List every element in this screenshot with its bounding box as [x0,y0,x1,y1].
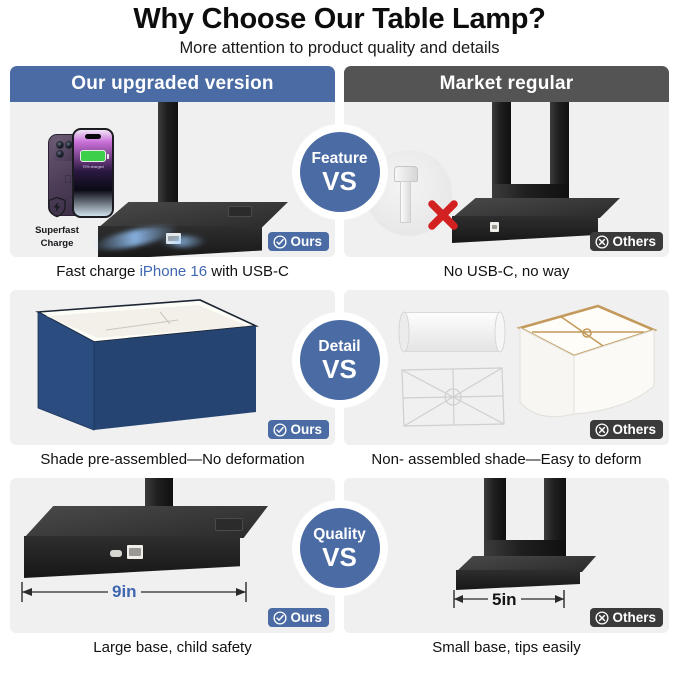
dimension-label-5in: 5in [488,590,521,610]
caption-ours-prefix: Fast charge [56,263,139,280]
vs-badge-circle: Detail VS [300,320,380,400]
vs-badge-text: VS [322,544,357,570]
column-header-market: Market regular [344,66,669,102]
caption-ours-suffix: with USB-C [207,263,289,280]
panel-market-quality: 5in Others [344,478,669,633]
infographic-page: Why Choose Our Table Lamp? More attentio… [0,0,679,677]
vs-badge-text: VS [322,356,357,382]
tag-others-quality: Others [590,608,663,627]
x-circle-icon [595,423,609,437]
dimension-label-9in: 9in [108,582,141,602]
x-circle-icon [595,235,609,249]
superfast-charge-badge: Superfast Charge [22,196,92,249]
tag-ours-label: Ours [290,422,322,437]
vs-badge-feature: Feature VS [292,124,388,220]
column-header-ours: Our upgraded version [10,66,335,102]
caption-others-detail: Non- assembled shade—Easy to deform [344,445,669,475]
vs-badge-circle: Feature VS [300,132,380,212]
caption-ours-feature: Fast charge iPhone 16 with USB-C [10,257,335,287]
panel-market-feature: Others [344,102,669,257]
tag-ours-label: Ours [290,234,322,249]
tag-ours-feature: Ours [268,232,329,251]
page-subtitle: More attention to product quality and de… [0,36,679,59]
vs-badge-label: Quality [313,527,366,543]
vs-badge-detail: Detail VS [292,312,388,408]
comparison-rows:  70% charged [0,102,679,663]
vs-badge-label: Feature [312,151,368,167]
caption-ours-highlight: iPhone 16 [140,263,208,280]
vs-badge-text: VS [322,168,357,194]
tag-others-label: Others [612,422,656,437]
superfast-line-1: Superfast [22,225,92,236]
vs-badge-quality: Quality VS [292,500,388,596]
caption-ours-quality: Large base, child safety [10,633,335,663]
red-x-icon [426,198,460,232]
caption-others-feature: No USB-C, no way [344,257,669,287]
tag-others-label: Others [612,610,656,625]
vs-badge-circle: Quality VS [300,508,380,588]
charge-status-text: 70% charged [82,165,103,169]
panel-ours-detail: Ours [10,290,335,445]
tag-ours-quality: Ours [268,608,329,627]
check-circle-icon [273,235,287,249]
column-headers: Our upgraded version Market regular [0,66,679,102]
superfast-line-2: Charge [22,238,92,249]
vs-badge-label: Detail [318,339,360,355]
shield-bolt-icon [47,196,67,218]
captions-detail: Shade pre-assembled—No deformation Non- … [10,445,669,475]
tag-ours-label: Ours [290,610,322,625]
panel-ours-feature:  70% charged [10,102,335,257]
tag-others-feature: Others [590,232,663,251]
panel-ours-quality: 9in Ours [10,478,335,633]
captions-feature: Fast charge iPhone 16 with USB-C No USB-… [10,257,669,287]
caption-ours-detail: Shade pre-assembled—No deformation [10,445,335,475]
tag-ours-detail: Ours [268,420,329,439]
x-circle-icon [595,611,609,625]
comparison-row-feature:  70% charged [10,102,669,287]
battery-indicator [80,150,106,162]
tag-others-label: Others [612,234,656,249]
tag-others-detail: Others [590,420,663,439]
check-circle-icon [273,611,287,625]
panel-market-detail: Others [344,290,669,445]
comparison-row-detail: Ours [10,290,669,475]
captions-quality: Large base, child safety Small base, tip… [10,633,669,663]
check-circle-icon [273,423,287,437]
page-title: Why Choose Our Table Lamp? [0,0,679,36]
comparison-row-quality: 9in Ours [10,478,669,663]
phone-notch [85,134,101,139]
caption-others-quality: Small base, tips easily [344,633,669,663]
